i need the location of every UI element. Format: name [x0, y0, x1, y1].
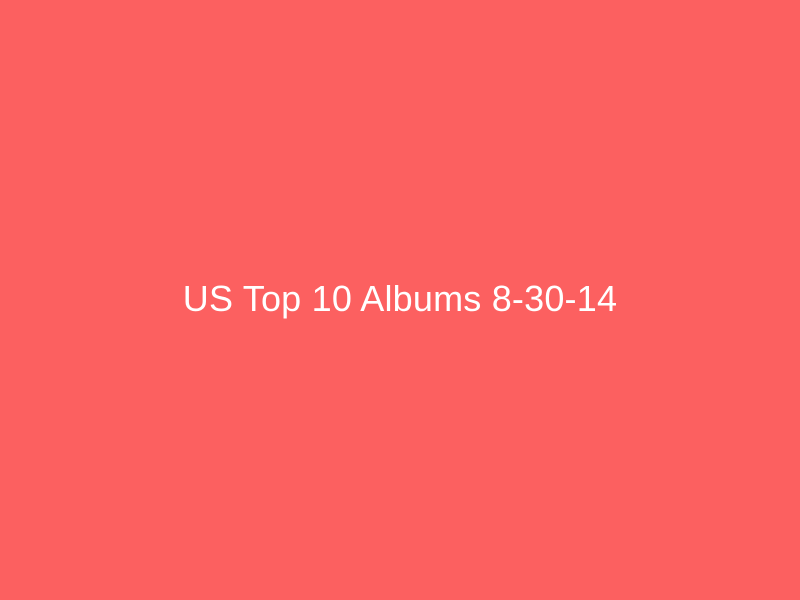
placeholder-card: US Top 10 Albums 8-30-14: [0, 0, 800, 600]
page-title: US Top 10 Albums 8-30-14: [183, 277, 617, 320]
